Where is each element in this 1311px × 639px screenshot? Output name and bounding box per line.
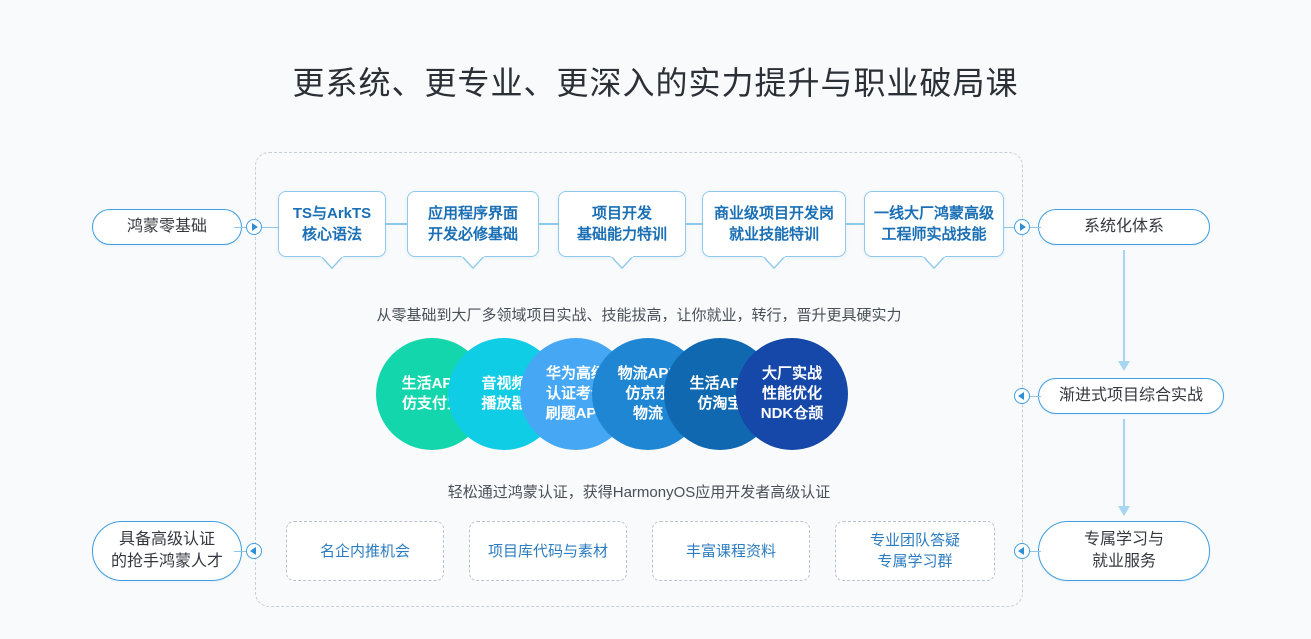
perk-card-2[interactable]: 项目库代码与素材 xyxy=(469,521,627,581)
label-harmony-zero-base[interactable]: 鸿蒙零基础 xyxy=(92,209,242,245)
label-text-line2: 就业服务 xyxy=(1092,551,1156,573)
step-card-2[interactable]: 应用程序界面开发必修基础 xyxy=(407,191,539,257)
label-progressive-projects[interactable]: 渐进式项目综合实战 xyxy=(1038,378,1224,414)
step-connector-line xyxy=(386,223,407,225)
page-title: 更系统、更专业、更深入的实力提升与职业破局课 xyxy=(0,58,1311,104)
label-learning-employment-service[interactable]: 专属学习与 就业服务 xyxy=(1038,521,1210,581)
perk-label-line2: 专属学习群 xyxy=(877,551,952,572)
perk-card-1[interactable]: 名企内推机会 xyxy=(286,521,444,581)
project-bubble-6[interactable]: 大厂实战性能优化NDK仓颉 xyxy=(736,338,848,450)
project-bubble-line3: 物流 xyxy=(633,404,663,424)
step-title-line1: 应用程序界面 xyxy=(428,203,518,224)
label-text-line1: 具备高级认证 xyxy=(119,529,215,551)
project-bubble-line2: 性能优化 xyxy=(762,384,822,404)
perk-label-line1: 项目库代码与素材 xyxy=(488,541,608,562)
project-bubbles: 生活APP仿支付宝音视频播放器华为高级认证考试刷题APP物流APP仿京东物流生活… xyxy=(255,338,1023,450)
flow-arrow-down xyxy=(1123,419,1125,507)
step-card-3[interactable]: 项目开发基础能力特训 xyxy=(558,191,686,257)
label-text: 鸿蒙零基础 xyxy=(127,216,207,238)
connector-line xyxy=(1029,551,1041,553)
step-title-line2: 就业技能特训 xyxy=(729,224,819,245)
label-systematic-system[interactable]: 系统化体系 xyxy=(1038,209,1210,245)
label-text: 系统化体系 xyxy=(1084,216,1164,238)
label-certified-talent[interactable]: 具备高级认证 的抢手鸿蒙人才 xyxy=(92,521,242,581)
connector-line xyxy=(1029,396,1041,398)
label-text: 渐进式项目综合实战 xyxy=(1059,385,1203,407)
step-title-line1: TS与ArkTS xyxy=(293,203,371,224)
step-title-line2: 基础能力特训 xyxy=(577,224,667,245)
perk-label-line1: 名企内推机会 xyxy=(320,541,410,562)
perk-label-line1: 专业团队答疑 xyxy=(870,530,960,551)
caption-upper: 从零基础到大厂多领域项目实战、技能拔高，让你就业，转行，晋升更具硬实力 xyxy=(255,304,1023,325)
perk-label-line1: 丰富课程资料 xyxy=(686,541,776,562)
step-connector-line xyxy=(686,223,702,225)
arrow-left-icon xyxy=(246,543,262,559)
label-text-line2: 的抢手鸿蒙人才 xyxy=(111,551,223,573)
step-title-line2: 核心语法 xyxy=(302,224,362,245)
step-card-4[interactable]: 商业级项目开发岗就业技能特训 xyxy=(702,191,846,257)
perk-card-4[interactable]: 专业团队答疑专属学习群 xyxy=(835,521,995,581)
project-bubble-line1: 大厂实战 xyxy=(762,364,822,384)
step-card-5[interactable]: 一线大厂鸿蒙高级工程师实战技能 xyxy=(864,191,1004,257)
label-text-line1: 专属学习与 xyxy=(1084,529,1164,551)
arrow-left-icon xyxy=(1014,543,1030,559)
step-title-line1: 项目开发 xyxy=(592,203,652,224)
caption-lower: 轻松通过鸿蒙认证，获得HarmonyOS应用开发者高级认证 xyxy=(255,481,1023,502)
step-title-line2: 开发必修基础 xyxy=(428,224,518,245)
step-title-line2: 工程师实战技能 xyxy=(881,224,986,245)
perk-card-3[interactable]: 丰富课程资料 xyxy=(652,521,810,581)
step-title-line1: 商业级项目开发岗 xyxy=(714,203,834,224)
arrow-right-icon xyxy=(246,219,262,235)
step-connector-line xyxy=(539,223,558,225)
step-connector-line xyxy=(846,223,864,225)
step-title-line1: 一线大厂鸿蒙高级 xyxy=(874,203,994,224)
flow-arrow-down xyxy=(1123,250,1125,362)
connector-line xyxy=(1029,227,1041,229)
step-card-1[interactable]: TS与ArkTS核心语法 xyxy=(278,191,386,257)
arrow-right-icon xyxy=(1014,219,1030,235)
project-bubble-line3: NDK仓颉 xyxy=(761,404,824,424)
